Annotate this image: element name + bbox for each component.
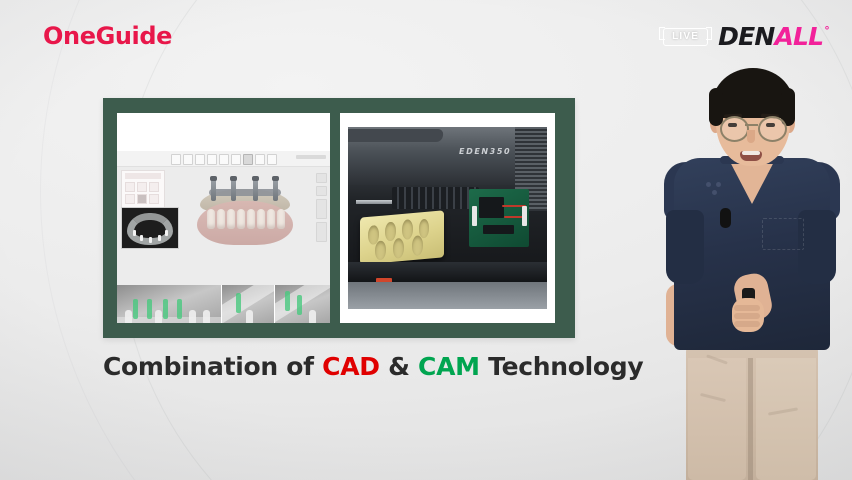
cad-tool-icon bbox=[231, 154, 241, 165]
model-cavity bbox=[393, 238, 404, 259]
presenter-chest-pocket bbox=[762, 218, 804, 250]
implant-plan-overlay bbox=[133, 299, 138, 319]
cad-tool-icon-selected bbox=[243, 154, 253, 165]
slide-caption: Combination of CAD & CAM Technology bbox=[103, 352, 575, 381]
model-cavity bbox=[385, 221, 396, 242]
cad-tool-group bbox=[171, 154, 277, 165]
caption-part-2: Technology bbox=[480, 352, 644, 381]
caption-ampersand: & bbox=[380, 352, 418, 381]
implant-marker bbox=[165, 230, 168, 236]
tooth bbox=[277, 209, 285, 229]
tooth bbox=[237, 209, 245, 229]
presenter-finger bbox=[734, 313, 760, 319]
printer-model-label: EDEN350 bbox=[459, 147, 511, 156]
cad-right-rail bbox=[316, 173, 327, 242]
cad-grid-cell bbox=[125, 182, 135, 192]
printer-base-panel bbox=[348, 282, 547, 309]
printer-lid-shade bbox=[348, 129, 444, 142]
presenter bbox=[650, 58, 850, 480]
implant-plan-overlay bbox=[285, 291, 290, 311]
slide-image-frame: EDEN350 bbox=[103, 98, 575, 338]
cad-software-panel bbox=[117, 113, 330, 323]
implant-plan-overlay bbox=[297, 295, 302, 315]
implant-marker bbox=[149, 237, 152, 243]
model-cavity bbox=[375, 240, 386, 261]
implant-plan-overlay bbox=[177, 299, 182, 319]
implant-post bbox=[253, 179, 258, 201]
glasses-left-lens-icon bbox=[720, 116, 749, 142]
radiograph-sagittal-view bbox=[275, 285, 330, 323]
cad-rail-panel bbox=[316, 199, 327, 219]
cad-rail-button bbox=[316, 186, 327, 196]
implant-post bbox=[211, 179, 216, 201]
presenter-teeth bbox=[742, 151, 760, 155]
radiograph-cross-section-view bbox=[222, 285, 274, 323]
broadcast-slide-frame: OneGuide LIVE DEN ALL ° bbox=[0, 0, 852, 480]
presenter-hair-left-side bbox=[709, 88, 723, 126]
cad-toolbar bbox=[117, 151, 330, 167]
printer-control-board bbox=[469, 189, 529, 247]
live-badge: LIVE bbox=[663, 28, 708, 46]
cad-side-panel bbox=[121, 170, 165, 208]
presenter-finger bbox=[734, 321, 760, 327]
dental-arch-3d-model bbox=[191, 175, 299, 251]
cad-tool-icon bbox=[195, 154, 205, 165]
pcb-chip bbox=[479, 197, 504, 218]
cad-grid-cell bbox=[125, 194, 135, 204]
cad-tool-icon bbox=[171, 154, 181, 165]
presenter-trouser-seam bbox=[748, 358, 753, 480]
tooth-shadow bbox=[309, 310, 316, 323]
implant-marker bbox=[133, 230, 136, 236]
tooth bbox=[207, 209, 215, 229]
cad-rail-button bbox=[316, 173, 327, 183]
tooth bbox=[267, 209, 275, 229]
implant-marker bbox=[140, 235, 143, 241]
tooth-shadow bbox=[155, 310, 162, 323]
cad-tooth-grid bbox=[122, 181, 164, 205]
model-cavity bbox=[412, 235, 423, 256]
oneguide-logo: OneGuide bbox=[43, 22, 172, 50]
cad-side-panel-header bbox=[125, 173, 161, 179]
brand-den-text: DEN bbox=[718, 24, 774, 49]
pcb-connector bbox=[522, 206, 527, 226]
tooth-shadow bbox=[203, 310, 210, 323]
printer-print-head-array bbox=[392, 187, 480, 209]
implant-plan-overlay bbox=[236, 293, 241, 313]
tooth-shadow bbox=[189, 310, 196, 323]
denall-wordmark: DEN ALL ° bbox=[718, 24, 829, 49]
implant-marker bbox=[158, 235, 161, 241]
model-cavity bbox=[402, 219, 413, 240]
tooth-shadow bbox=[125, 310, 132, 323]
cad-workspace bbox=[117, 151, 330, 285]
caption-part-1: Combination of bbox=[103, 352, 322, 381]
glasses-right-lens-icon bbox=[758, 116, 787, 142]
cad-tool-icon bbox=[183, 154, 193, 165]
implant-plan-overlay bbox=[147, 299, 152, 319]
scrub-snap-button bbox=[712, 190, 717, 195]
pcb-red-wire bbox=[504, 216, 523, 218]
tooth bbox=[257, 209, 265, 229]
cad-software-logo bbox=[296, 155, 326, 159]
tooth bbox=[247, 209, 255, 229]
scrub-snap-button bbox=[716, 182, 721, 187]
lapel-microphone-icon bbox=[720, 208, 731, 228]
cad-grid-cell bbox=[149, 182, 159, 192]
arch-metal-bar bbox=[209, 189, 281, 196]
brand-degree-icon: ° bbox=[824, 25, 829, 36]
scrub-snap-button bbox=[706, 182, 711, 187]
implant-post bbox=[273, 179, 278, 201]
radiograph-view-strip bbox=[117, 285, 330, 323]
cad-tool-icon bbox=[267, 154, 277, 165]
cad-grid-cell bbox=[149, 194, 159, 204]
ct-panoramic-inset bbox=[121, 207, 179, 249]
cad-grid-cell bbox=[137, 182, 147, 192]
presenter-right-leg bbox=[756, 358, 816, 480]
implant-post bbox=[231, 179, 236, 201]
brand-all-text: ALL bbox=[774, 24, 823, 49]
presenter-nose bbox=[747, 130, 755, 143]
pcb-chip bbox=[483, 225, 514, 234]
glasses-bridge-icon bbox=[745, 124, 758, 126]
presenter-left-sleeve bbox=[666, 210, 704, 284]
cad-grid-cell-active bbox=[137, 194, 147, 204]
tooth-shadow bbox=[246, 310, 253, 323]
radiograph-panoramic-view bbox=[117, 285, 221, 323]
caption-cam: CAM bbox=[418, 352, 480, 381]
cad-tool-icon bbox=[255, 154, 265, 165]
eden350-3d-printer: EDEN350 bbox=[348, 127, 547, 309]
cad-rail-panel bbox=[316, 222, 327, 242]
slice-band bbox=[275, 285, 330, 322]
presenter-finger bbox=[734, 305, 760, 311]
presenter-left-leg bbox=[688, 358, 746, 480]
tooth bbox=[217, 209, 225, 229]
channel-branding: LIVE DEN ALL ° bbox=[663, 24, 829, 49]
cad-tool-icon bbox=[219, 154, 229, 165]
pcb-connector bbox=[472, 206, 477, 226]
cad-tool-icon bbox=[207, 154, 217, 165]
printed-dental-model bbox=[360, 211, 444, 266]
tooth bbox=[227, 209, 235, 229]
caption-cad: CAD bbox=[322, 352, 380, 381]
implant-plan-overlay bbox=[163, 299, 168, 319]
printer-photo-panel: EDEN350 bbox=[340, 113, 555, 323]
